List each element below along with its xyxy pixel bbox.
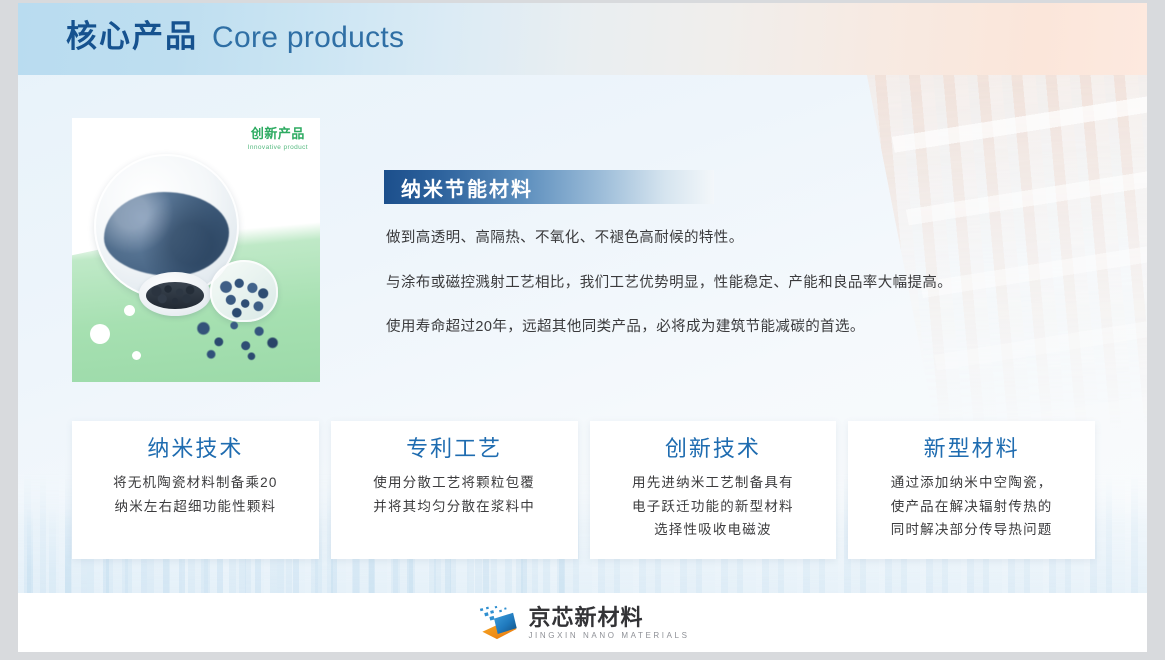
feature-card-body: 通过添加纳米中空陶瓷， 使产品在解决辐射传热的 同时解决部分传导热问题 — [891, 471, 1053, 542]
photo-bubble-large — [90, 324, 110, 344]
dark-pellets — [146, 282, 204, 309]
spilled-pellets — [190, 314, 286, 362]
frame-right-edge — [1147, 0, 1165, 660]
company-name-en: JINGXIN NANO MATERIALS — [528, 632, 689, 640]
feature-card-body: 使用分散工艺将颗粒包覆 并将其均匀分散在浆料中 — [373, 471, 535, 518]
feature-card-line: 用先进纳米工艺制备具有 — [632, 471, 794, 495]
feature-paragraph: 使用寿命超过20年，远超其他同类产品，必将成为建筑节能减碳的首选。 — [386, 320, 1046, 335]
photo-label-en: Innovative product — [248, 144, 308, 151]
feature-card-list: 纳米技术 将无机陶瓷材料制备乘20 纳米左右超细功能性颗料 专利工艺 使用分散工… — [72, 421, 1095, 559]
feature-paragraph: 做到高透明、高隔热、不氧化、不褪色高耐候的特性。 — [386, 231, 1046, 246]
feature-card-line: 纳米左右超细功能性颗料 — [113, 495, 277, 519]
feature-paragraphs: 做到高透明、高隔热、不氧化、不褪色高耐候的特性。 与涂布或磁控溅射工艺相比，我们… — [386, 231, 1046, 365]
feature-card-title: 纳米技术 — [147, 438, 243, 460]
feature-paragraph: 与涂布或磁控溅射工艺相比，我们工艺优势明显，性能稳定、产能和良品率大幅提高。 — [386, 276, 1046, 291]
feature-headline-bar: 纳米节能材料 — [384, 170, 714, 204]
feature-card[interactable]: 纳米技术 将无机陶瓷材料制备乘20 纳米左右超细功能性颗料 — [72, 421, 319, 559]
page-title: 核心产品Core products — [66, 21, 404, 53]
feature-card-line: 通过添加纳米中空陶瓷， — [891, 471, 1053, 495]
blue-powder — [104, 192, 229, 276]
petri-dish-dark-pellets — [139, 272, 211, 316]
photo-label-cn: 创新产品 — [248, 127, 308, 142]
feature-card-line: 电子跃迁功能的新型材料 — [632, 495, 794, 519]
tilted-jar-blue-pellets — [210, 260, 278, 322]
company-name-cn: 京芯新材料 — [528, 607, 689, 629]
company-logo-text: 京芯新材料 JINGXIN NANO MATERIALS — [528, 605, 689, 640]
page-title-en: Core products — [212, 21, 404, 54]
feature-card[interactable]: 专利工艺 使用分散工艺将颗粒包覆 并将其均匀分散在浆料中 — [331, 421, 578, 559]
frame-bottom-edge — [0, 652, 1165, 660]
slide-stage: 核心产品Core products 创新产品 Innovative produc… — [18, 3, 1147, 652]
product-photo: 创新产品 Innovative product — [72, 118, 320, 382]
company-logo-icon — [475, 604, 519, 642]
feature-card[interactable]: 创新技术 用先进纳米工艺制备具有 电子跃迁功能的新型材料 选择性吸收电磁波 — [590, 421, 837, 559]
footer: 京芯新材料 JINGXIN NANO MATERIALS — [18, 593, 1147, 652]
feature-card-title: 专利工艺 — [406, 438, 502, 460]
feature-card-line: 使产品在解决辐射传热的 — [891, 495, 1053, 519]
slide-canvas: 核心产品Core products 创新产品 Innovative produc… — [0, 0, 1165, 660]
feature-headline-text: 纳米节能材料 — [401, 173, 533, 202]
feature-card-body: 将无机陶瓷材料制备乘20 纳米左右超细功能性颗料 — [113, 471, 277, 518]
feature-card[interactable]: 新型材料 通过添加纳米中空陶瓷， 使产品在解决辐射传热的 同时解决部分传导热问题 — [848, 421, 1095, 559]
page-title-cn: 核心产品 — [66, 19, 198, 54]
photo-bubble-small — [132, 351, 141, 360]
feature-card-title: 新型材料 — [924, 438, 1020, 460]
feature-card-line: 选择性吸收电磁波 — [632, 518, 794, 542]
photo-label: 创新产品 Innovative product — [248, 127, 308, 151]
frame-left-edge — [0, 0, 18, 660]
feature-card-body: 用先进纳米工艺制备具有 电子跃迁功能的新型材料 选择性吸收电磁波 — [632, 471, 794, 542]
feature-card-line: 将无机陶瓷材料制备乘20 — [113, 471, 277, 495]
feature-card-line: 并将其均匀分散在浆料中 — [373, 495, 535, 519]
feature-card-title: 创新技术 — [665, 438, 761, 460]
feature-card-line: 使用分散工艺将颗粒包覆 — [373, 471, 535, 495]
photo-bubble-medium — [124, 305, 135, 316]
feature-card-line: 同时解决部分传导热问题 — [891, 518, 1053, 542]
